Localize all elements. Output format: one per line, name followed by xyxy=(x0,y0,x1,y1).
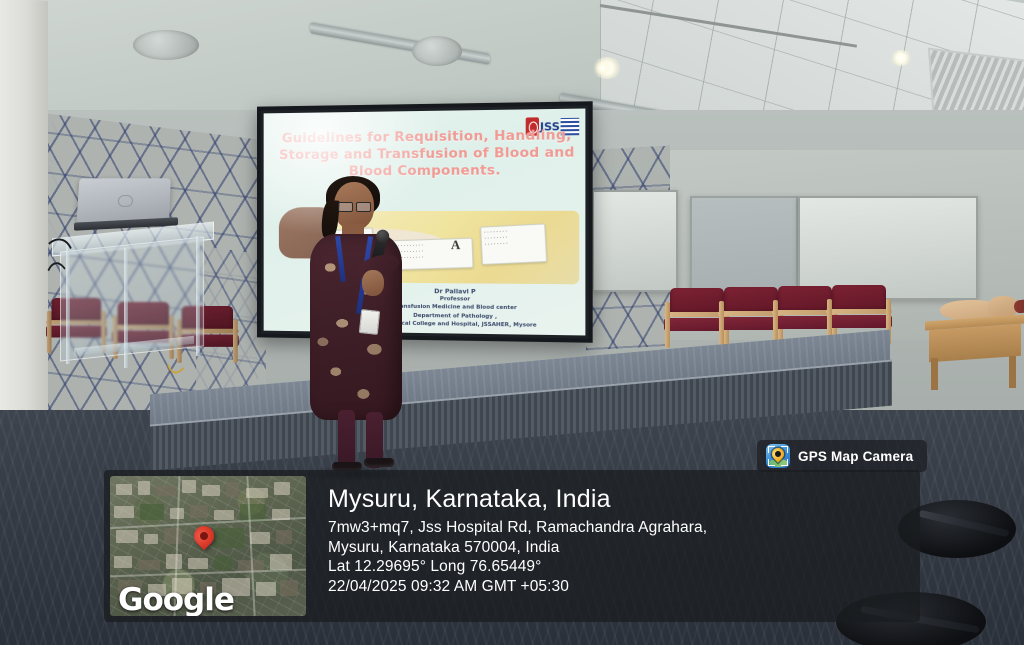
whiteboard-left xyxy=(592,190,678,292)
slide-blood-type-a: A xyxy=(451,237,460,253)
presenter-person xyxy=(300,182,430,482)
gps-address-line-1: 7mw3+mq7, Jss Hospital Rd, Ramachandra A… xyxy=(328,518,920,538)
laptop-lid xyxy=(76,178,170,222)
whiteboard-middle xyxy=(690,196,798,300)
map-thumbnail: Google xyxy=(110,476,306,616)
gps-timestamp: 22/04/2025 09:32 AM GMT +05:30 xyxy=(328,577,920,597)
slide-title-line-2: Storage and Transfusion of Blood and xyxy=(273,144,581,164)
slide-title: Guidelines for Requisition, Handling, St… xyxy=(273,127,581,181)
ceiling-speaker-icon xyxy=(412,36,462,66)
gps-map-camera-badge: GPS Map Camera xyxy=(757,440,927,472)
ceiling-spotlight-icon xyxy=(594,62,612,74)
screenshot-root: JSS Guidelines for Requisition, Handling… xyxy=(0,0,1024,645)
presenter-legs xyxy=(338,410,386,466)
id-badge xyxy=(359,309,380,335)
ceiling-spotlight-icon xyxy=(890,50,912,66)
ceiling-speaker-icon xyxy=(133,30,199,60)
slide-title-line-3: Blood Components. xyxy=(273,162,581,181)
presenter-hand xyxy=(362,270,384,296)
gps-address-line-2: Mysuru, Karnataka 570004, India xyxy=(328,538,920,558)
gps-text-block: Mysuru, Karnataka, India 7mw3+mq7, Jss H… xyxy=(312,470,920,622)
gps-city-line: Mysuru, Karnataka, India xyxy=(328,484,920,514)
gps-map-camera-label: GPS Map Camera xyxy=(798,449,913,464)
gps-coordinates: Lat 12.29695° Long 76.65449° xyxy=(328,557,920,577)
gps-info-panel: Google Mysuru, Karnataka, India 7mw3+mq7… xyxy=(104,470,920,622)
hp-laptop xyxy=(78,178,170,230)
google-watermark: Google xyxy=(118,582,234,616)
presenter-sandal-right xyxy=(364,458,394,467)
gps-map-camera-icon xyxy=(766,444,790,468)
whiteboard-right xyxy=(798,196,978,300)
side-table xyxy=(925,318,1024,386)
hp-logo-icon xyxy=(118,195,134,207)
presenter-glasses-icon xyxy=(338,202,372,210)
